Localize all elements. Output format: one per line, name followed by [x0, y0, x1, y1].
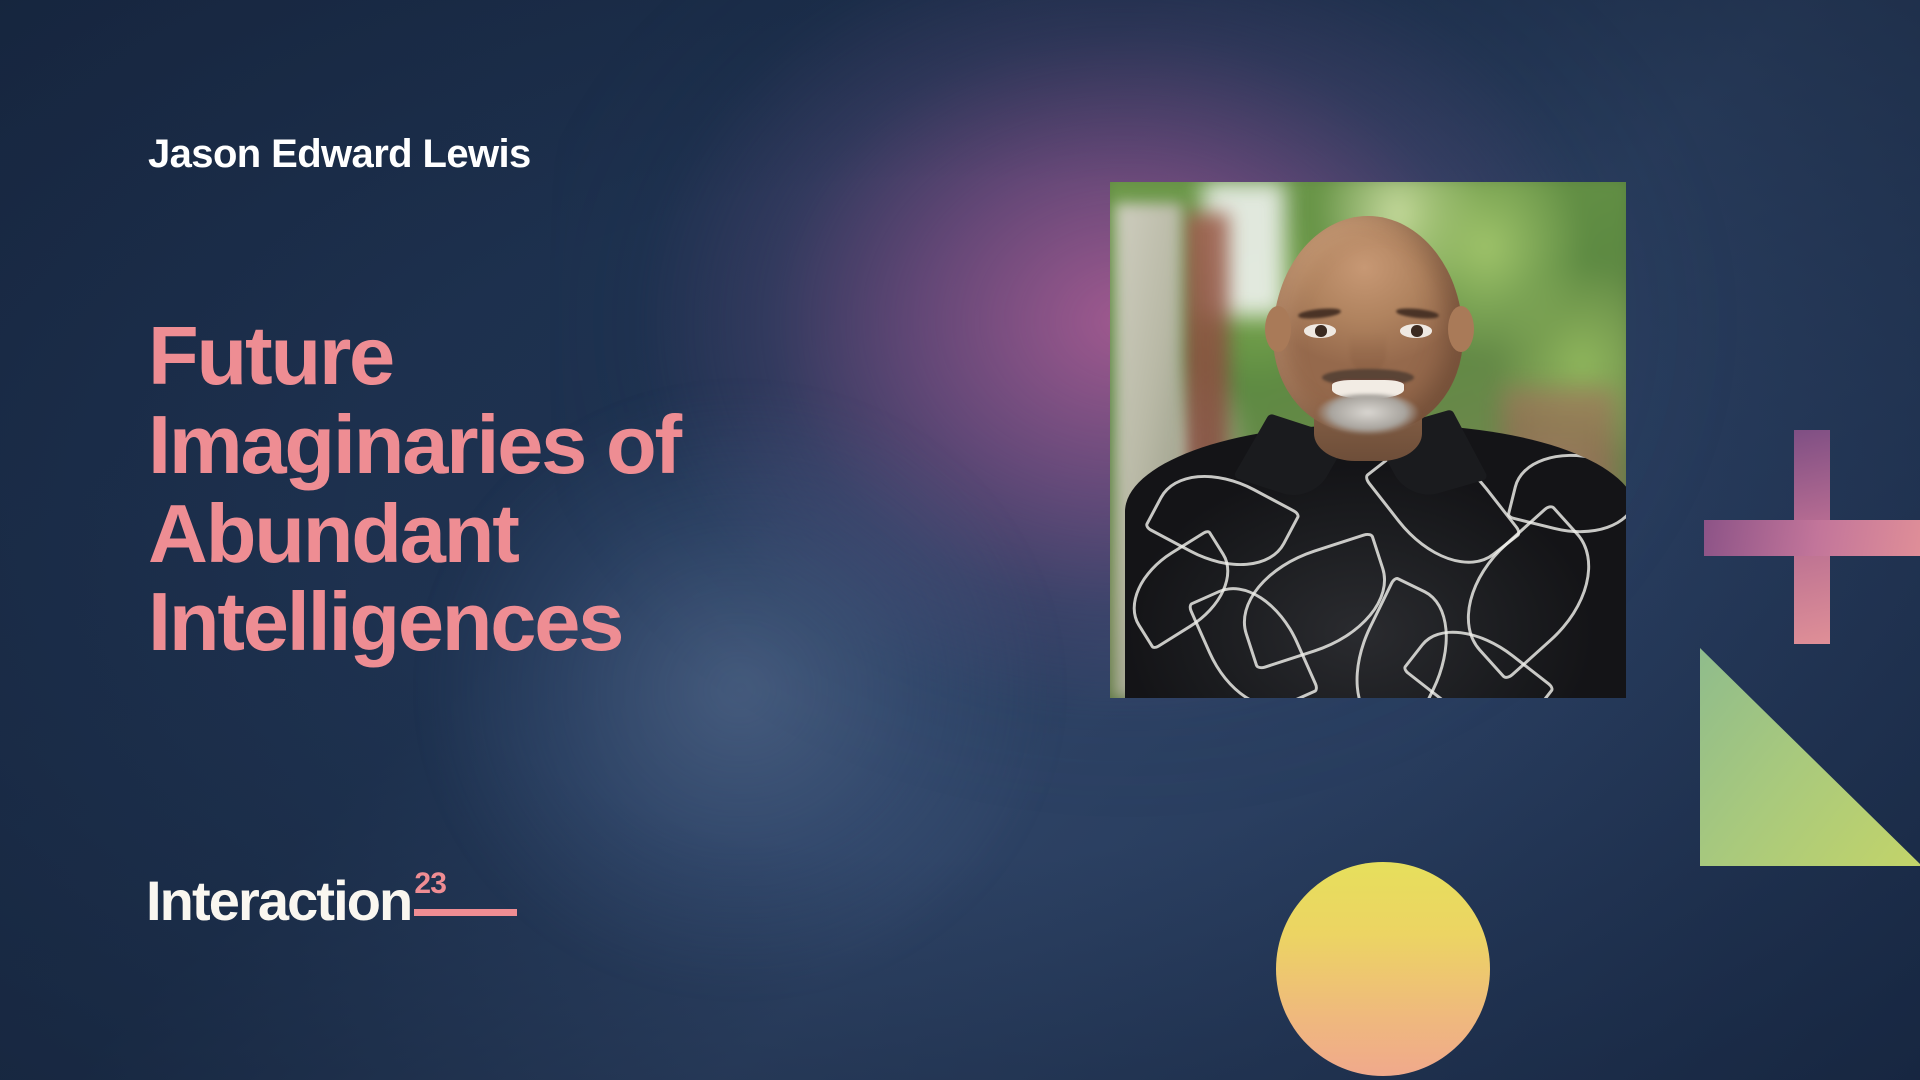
portrait-eye-left — [1304, 324, 1336, 337]
speaker-portrait-photo — [1110, 182, 1626, 698]
speaker-name: Jason Edward Lewis — [148, 132, 531, 177]
logo-wordmark: Interaction — [146, 873, 411, 929]
portrait-eye-right — [1400, 324, 1432, 337]
presentation-slide: Jason Edward Lewis Future Imaginaries of… — [0, 0, 1920, 1080]
title-line-1: Future — [148, 312, 908, 401]
portrait-ear-left — [1265, 306, 1291, 352]
plus-shape-decoration — [1704, 430, 1920, 644]
logo-year-group: 23 — [414, 869, 517, 916]
plus-horizontal-bar — [1704, 520, 1920, 556]
portrait-pupil-left — [1315, 325, 1328, 337]
event-logo: Interaction 23 — [146, 873, 517, 929]
title-line-4: Intelligences — [148, 578, 908, 667]
logo-year: 23 — [414, 869, 517, 899]
portrait-nose — [1350, 334, 1386, 373]
portrait-patterned-shirt — [1125, 425, 1626, 698]
title-line-2: Imaginaries of — [148, 401, 908, 490]
title-line-3: Abundant — [148, 490, 908, 579]
circle-shape-decoration — [1276, 862, 1490, 1076]
portrait-goatee — [1316, 394, 1419, 440]
portrait-pupil-right — [1411, 325, 1424, 337]
logo-underline-rule — [414, 909, 517, 916]
portrait-canvas — [1110, 182, 1626, 698]
portrait-ear-right — [1448, 306, 1474, 352]
talk-title: Future Imaginaries of Abundant Intellige… — [148, 312, 908, 667]
